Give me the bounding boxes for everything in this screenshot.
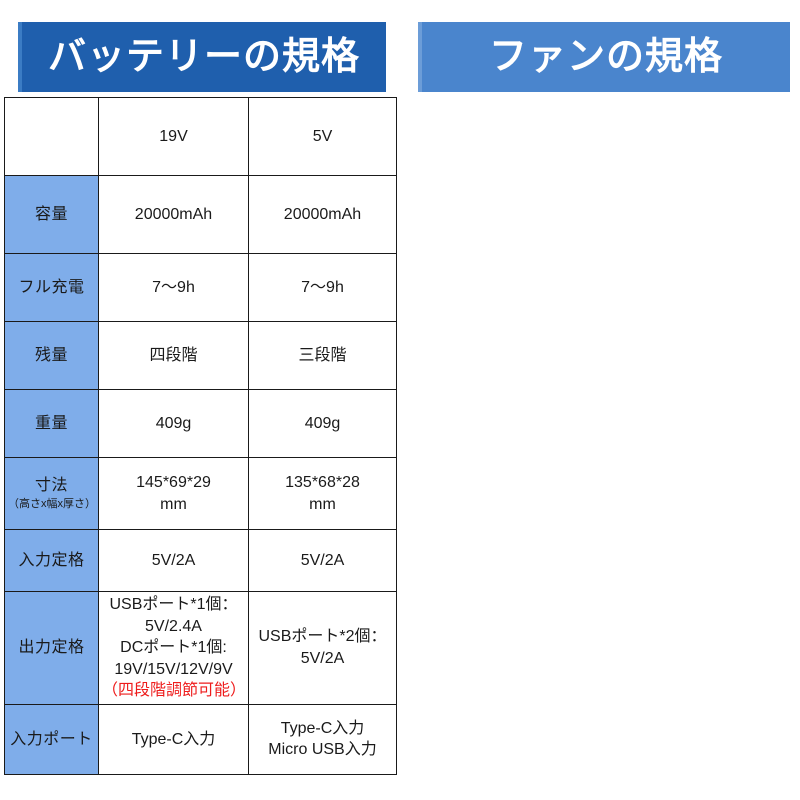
table-row: 入力定格 5V/2A 5V/2A bbox=[5, 530, 397, 592]
dimensions-5v-line2: mm bbox=[252, 494, 393, 516]
cell-capacity-19v: 20000mAh bbox=[99, 176, 249, 254]
row-label-remaining: 残量 bbox=[5, 322, 99, 390]
cell-full-charge-5v: 7〜9h bbox=[249, 254, 397, 322]
battery-spec-table: 19V 5V 容量 20000mAh 20000mAh フル充電 7〜9h 7〜… bbox=[4, 97, 397, 775]
cell-dimensions-19v: 145*69*29 mm bbox=[99, 458, 249, 530]
row-label-capacity: 容量 bbox=[5, 176, 99, 254]
dimensions-19v-line2: mm bbox=[102, 494, 245, 516]
cell-input-port-5v: Type-C入力 Micro USB入力 bbox=[249, 704, 397, 774]
dimensions-19v-line1: 145*69*29 bbox=[102, 472, 245, 494]
table-row: 寸法 （高さx幅x厚さ） 145*69*29 mm 135*68*28 mm bbox=[5, 458, 397, 530]
table-row: 出力定格 USBポート*1個： 5V/2.4A DCポート*1個: 19V/15… bbox=[5, 592, 397, 705]
cell-remaining-19v: 四段階 bbox=[99, 322, 249, 390]
cell-input-rating-5v: 5V/2A bbox=[249, 530, 397, 592]
row-label-output-rating: 出力定格 bbox=[5, 592, 99, 705]
battery-banner: バッテリーの規格 bbox=[18, 22, 386, 92]
corner-cell bbox=[5, 98, 99, 176]
output-19v-line4: 19V/15V/12V/9V bbox=[102, 659, 245, 681]
output-19v-line3: DCポート*1個: bbox=[102, 637, 245, 659]
row-label-dimensions-main: 寸法 bbox=[35, 477, 68, 494]
row-label-input-rating: 入力定格 bbox=[5, 530, 99, 592]
spec-comparison-page: バッテリーの規格 19V 5V 容量 20000mAh 20000mAh フル充… bbox=[0, 0, 800, 800]
cell-dimensions-5v: 135*68*28 mm bbox=[249, 458, 397, 530]
output-19v-line1: USBポート*1個： bbox=[102, 594, 245, 616]
table-header-row: 19V 5V bbox=[5, 98, 397, 176]
cell-output-rating-19v: USBポート*1個： 5V/2.4A DCポート*1個: 19V/15V/12V… bbox=[99, 592, 249, 705]
output-19v-red-note: （四段階調節可能） bbox=[102, 680, 245, 702]
row-label-full-charge: フル充電 bbox=[5, 254, 99, 322]
input-port-5v-line2: Micro USB入力 bbox=[252, 739, 393, 761]
cell-capacity-5v: 20000mAh bbox=[249, 176, 397, 254]
column-header-19v: 19V bbox=[99, 98, 249, 176]
row-label-input-port: 入力ポート bbox=[5, 704, 99, 774]
cell-weight-5v: 409g bbox=[249, 390, 397, 458]
row-label-weight: 重量 bbox=[5, 390, 99, 458]
fan-spec-panel: ファンの規格 19V（DC式） 5V（USB式） 風量 四段階 三段階 bbox=[400, 0, 800, 800]
column-header-5v: 5V bbox=[249, 98, 397, 176]
row-label-dimensions: 寸法 （高さx幅x厚さ） bbox=[5, 458, 99, 530]
table-row: 入力ポート Type-C入力 Type-C入力 Micro USB入力 bbox=[5, 704, 397, 774]
table-row: 容量 20000mAh 20000mAh bbox=[5, 176, 397, 254]
battery-spec-panel: バッテリーの規格 19V 5V 容量 20000mAh 20000mAh フル充… bbox=[0, 0, 400, 800]
battery-banner-title: バッテリーの規格 bbox=[48, 38, 360, 76]
fan-banner: ファンの規格 bbox=[418, 22, 790, 92]
output-5v-line1: USBポート*2個： bbox=[252, 626, 393, 648]
input-port-5v-line1: Type-C入力 bbox=[252, 718, 393, 740]
table-row: 残量 四段階 三段階 bbox=[5, 322, 397, 390]
output-5v-line2: 5V/2A bbox=[252, 648, 393, 670]
row-label-dimensions-sub: （高さx幅x厚さ） bbox=[8, 497, 95, 512]
output-19v-line2: 5V/2.4A bbox=[102, 616, 245, 638]
fan-banner-title: ファンの規格 bbox=[489, 38, 723, 76]
cell-output-rating-5v: USBポート*2個： 5V/2A bbox=[249, 592, 397, 705]
cell-weight-19v: 409g bbox=[99, 390, 249, 458]
cell-input-port-19v: Type-C入力 bbox=[99, 704, 249, 774]
table-row: フル充電 7〜9h 7〜9h bbox=[5, 254, 397, 322]
dimensions-5v-line1: 135*68*28 bbox=[252, 472, 393, 494]
cell-remaining-5v: 三段階 bbox=[249, 322, 397, 390]
table-row: 重量 409g 409g bbox=[5, 390, 397, 458]
cell-full-charge-19v: 7〜9h bbox=[99, 254, 249, 322]
cell-input-rating-19v: 5V/2A bbox=[99, 530, 249, 592]
